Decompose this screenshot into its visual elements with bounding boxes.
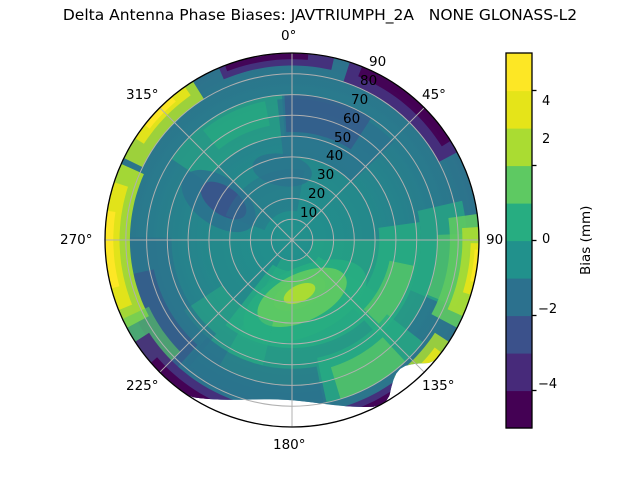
- colorbar-title: Bias (mm): [578, 206, 594, 275]
- colorbar-band: [506, 128, 532, 166]
- radial-label-80: 80: [360, 73, 377, 89]
- azimuth-label-225: 225°: [126, 378, 159, 394]
- colorbar-ticklabel-0: 0: [542, 232, 550, 247]
- radial-label-70: 70: [351, 92, 368, 108]
- radial-label-30: 30: [317, 167, 334, 183]
- radial-label-90: 90: [369, 54, 386, 70]
- colorbar-ticklabel-2: 2: [542, 132, 550, 147]
- azimuth-label-0: 0°: [281, 28, 296, 44]
- radial-label-20: 20: [308, 186, 325, 202]
- azimuth-label-135: 135°: [422, 378, 455, 394]
- colorbar-ticklabel-neg4: −4: [538, 377, 557, 392]
- figure-canvas: Delta Antenna Phase Biases: JAVTRIUMPH_2…: [0, 0, 640, 480]
- colorbar-band: [506, 91, 532, 129]
- colorbar-band: [506, 241, 532, 279]
- azimuth-label-270: 270°: [60, 232, 93, 248]
- colorbar-band: [506, 166, 532, 204]
- polar-gridlines: [105, 53, 479, 427]
- page-title: Delta Antenna Phase Biases: JAVTRIUMPH_2…: [0, 6, 640, 24]
- radial-label-50: 50: [334, 130, 351, 146]
- radial-label-10: 10: [300, 205, 317, 221]
- colorbar-band: [506, 203, 532, 241]
- colorbar-ticklabel-4: 4: [542, 94, 550, 109]
- colorbar-band: [506, 316, 532, 354]
- azimuth-label-45: 45°: [422, 87, 446, 103]
- azimuth-label-180: 180°: [273, 437, 306, 453]
- colorbar-band: [506, 391, 532, 429]
- colorbar-band: [506, 53, 532, 91]
- contour-band: [234, 406, 311, 427]
- radial-label-40: 40: [326, 148, 343, 164]
- colorbar-band: [506, 278, 532, 316]
- colorbar-ticks: [532, 91, 537, 391]
- colorbar-ticklabel-neg2: −2: [538, 302, 557, 317]
- azimuth-label-315: 315°: [126, 87, 159, 103]
- colorbar-bands: [506, 53, 532, 429]
- radial-label-60: 60: [343, 111, 360, 127]
- colorbar-band: [506, 353, 532, 391]
